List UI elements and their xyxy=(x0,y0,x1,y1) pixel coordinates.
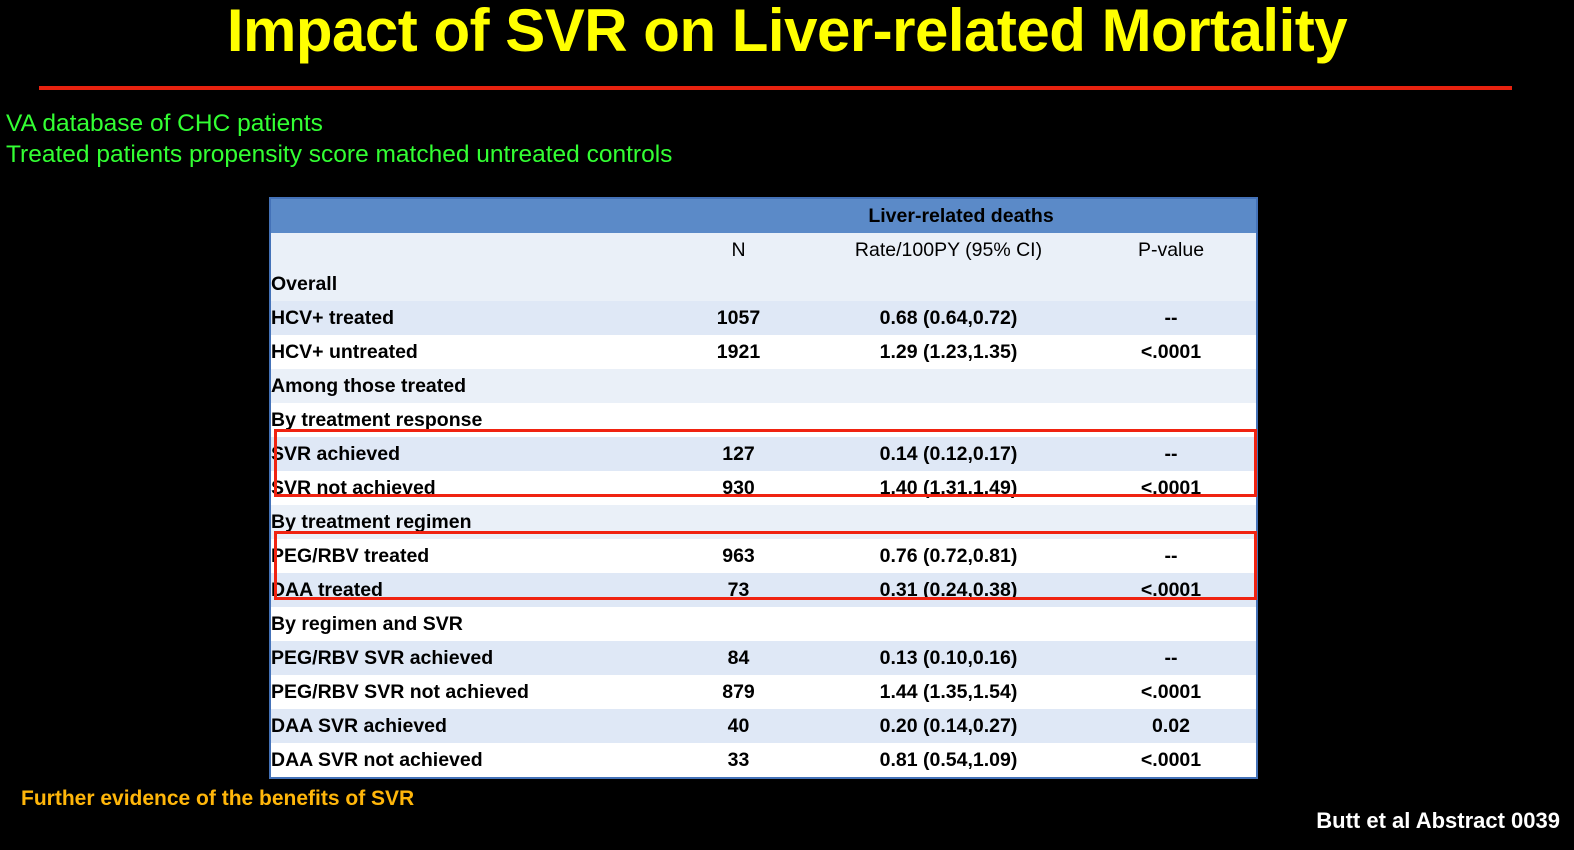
table-cell-pvalue xyxy=(1086,505,1256,539)
column-header-n: N xyxy=(666,233,811,267)
table-cell-pvalue: -- xyxy=(1086,437,1256,471)
table-cell-rate: 0.14 (0.12,0.17) xyxy=(811,437,1086,471)
table-row: PEG/RBV SVR achieved840.13 (0.10,0.16)-- xyxy=(271,641,1256,675)
table-cell-rate: 0.31 (0.24,0.38) xyxy=(811,573,1086,607)
table-row-label: PEG/RBV SVR not achieved xyxy=(271,675,666,709)
table-row: PEG/RBV SVR not achieved8791.44 (1.35,1.… xyxy=(271,675,1256,709)
table-cell-n: 84 xyxy=(666,641,811,675)
table-row-label: By treatment response xyxy=(271,403,666,437)
table-cell-n: 127 xyxy=(666,437,811,471)
slide-canvas: Impact of SVR on Liver-related Mortality… xyxy=(0,0,1574,850)
table-row: HCV+ treated10570.68 (0.64,0.72)-- xyxy=(271,301,1256,335)
table-group-header-label: Liver-related deaths xyxy=(666,199,1256,233)
table-cell-rate: 0.20 (0.14,0.27) xyxy=(811,709,1086,743)
table-cell-n: 1921 xyxy=(666,335,811,369)
subtitle-line-1: VA database of CHC patients xyxy=(6,110,323,138)
table-corner-cell xyxy=(271,199,666,233)
citation: Butt et al Abstract 0039 xyxy=(1316,808,1560,834)
table-cell-pvalue: -- xyxy=(1086,301,1256,335)
table-cell-rate: 1.29 (1.23,1.35) xyxy=(811,335,1086,369)
table-cell-n: 930 xyxy=(666,471,811,505)
table-cell-pvalue xyxy=(1086,607,1256,641)
column-header-pvalue: P-value xyxy=(1086,233,1256,267)
table-cell-rate: 1.40 (1.31,1.49) xyxy=(811,471,1086,505)
table-row: Among those treated xyxy=(271,369,1256,403)
table-row: By regimen and SVR xyxy=(271,607,1256,641)
table-cell-pvalue: <.0001 xyxy=(1086,743,1256,777)
table-cell-rate xyxy=(811,369,1086,403)
table-row: SVR not achieved9301.40 (1.31,1.49)<.000… xyxy=(271,471,1256,505)
table-row: DAA SVR achieved400.20 (0.14,0.27)0.02 xyxy=(271,709,1256,743)
table-group-header-row: Liver-related deaths xyxy=(271,199,1256,233)
subtitle-line-2: Treated patients propensity score matche… xyxy=(6,141,672,169)
table-cell-n: 73 xyxy=(666,573,811,607)
results-table: Liver-related deathsNRate/100PY (95% CI)… xyxy=(271,199,1256,777)
table-row-label: HCV+ treated xyxy=(271,301,666,335)
table-row-label: DAA treated xyxy=(271,573,666,607)
table-row-label: Among those treated xyxy=(271,369,666,403)
table-cell-n: 33 xyxy=(666,743,811,777)
table-cell-rate xyxy=(811,267,1086,301)
table-row: HCV+ untreated19211.29 (1.23,1.35)<.0001 xyxy=(271,335,1256,369)
results-table-container: Liver-related deathsNRate/100PY (95% CI)… xyxy=(269,197,1258,779)
table-cell-n xyxy=(666,403,811,437)
table-column-header-row: NRate/100PY (95% CI)P-value xyxy=(271,233,1256,267)
table-cell-pvalue: <.0001 xyxy=(1086,573,1256,607)
table-cell-rate xyxy=(811,607,1086,641)
table-row: DAA SVR not achieved330.81 (0.54,1.09)<.… xyxy=(271,743,1256,777)
table-row: Overall xyxy=(271,267,1256,301)
table-row-label: By treatment regimen xyxy=(271,505,666,539)
table-row-label: PEG/RBV treated xyxy=(271,539,666,573)
table-cell-n: 879 xyxy=(666,675,811,709)
table-row: DAA treated730.31 (0.24,0.38)<.0001 xyxy=(271,573,1256,607)
table-cell-pvalue: <.0001 xyxy=(1086,471,1256,505)
table-cell-n xyxy=(666,369,811,403)
table-cell-n xyxy=(666,505,811,539)
footer-note: Further evidence of the benefits of SVR xyxy=(21,787,414,811)
table-cell-pvalue: -- xyxy=(1086,539,1256,573)
title-underline xyxy=(39,86,1512,90)
table-cell-n: 40 xyxy=(666,709,811,743)
table-row-label: DAA SVR achieved xyxy=(271,709,666,743)
table-cell-rate: 0.68 (0.64,0.72) xyxy=(811,301,1086,335)
table-cell-pvalue: -- xyxy=(1086,641,1256,675)
table-cell-pvalue: <.0001 xyxy=(1086,335,1256,369)
table-row-label: By regimen and SVR xyxy=(271,607,666,641)
table-row-label: HCV+ untreated xyxy=(271,335,666,369)
table-row: By treatment response xyxy=(271,403,1256,437)
table-cell-rate: 0.76 (0.72,0.81) xyxy=(811,539,1086,573)
table-cell-n xyxy=(666,267,811,301)
table-cell-pvalue: 0.02 xyxy=(1086,709,1256,743)
table-row-label: SVR achieved xyxy=(271,437,666,471)
table-cell-pvalue: <.0001 xyxy=(1086,675,1256,709)
table-cell-rate xyxy=(811,505,1086,539)
page-title: Impact of SVR on Liver-related Mortality xyxy=(0,0,1574,65)
table-cell-rate: 1.44 (1.35,1.54) xyxy=(811,675,1086,709)
table-cell-pvalue xyxy=(1086,267,1256,301)
table-cell-n: 1057 xyxy=(666,301,811,335)
table-cell-rate: 0.81 (0.54,1.09) xyxy=(811,743,1086,777)
table-cell-n: 963 xyxy=(666,539,811,573)
table-row: SVR achieved1270.14 (0.12,0.17)-- xyxy=(271,437,1256,471)
column-header-rate: Rate/100PY (95% CI) xyxy=(811,233,1086,267)
table-cell-pvalue xyxy=(1086,403,1256,437)
table-cell-rate: 0.13 (0.10,0.16) xyxy=(811,641,1086,675)
table-cell-rate xyxy=(811,403,1086,437)
table-row: PEG/RBV treated9630.76 (0.72,0.81)-- xyxy=(271,539,1256,573)
table-row-label: PEG/RBV SVR achieved xyxy=(271,641,666,675)
table-row-label: DAA SVR not achieved xyxy=(271,743,666,777)
table-row: By treatment regimen xyxy=(271,505,1256,539)
column-header-blank xyxy=(271,233,666,267)
table-row-label: Overall xyxy=(271,267,666,301)
table-cell-n xyxy=(666,607,811,641)
table-row-label: SVR not achieved xyxy=(271,471,666,505)
table-cell-pvalue xyxy=(1086,369,1256,403)
